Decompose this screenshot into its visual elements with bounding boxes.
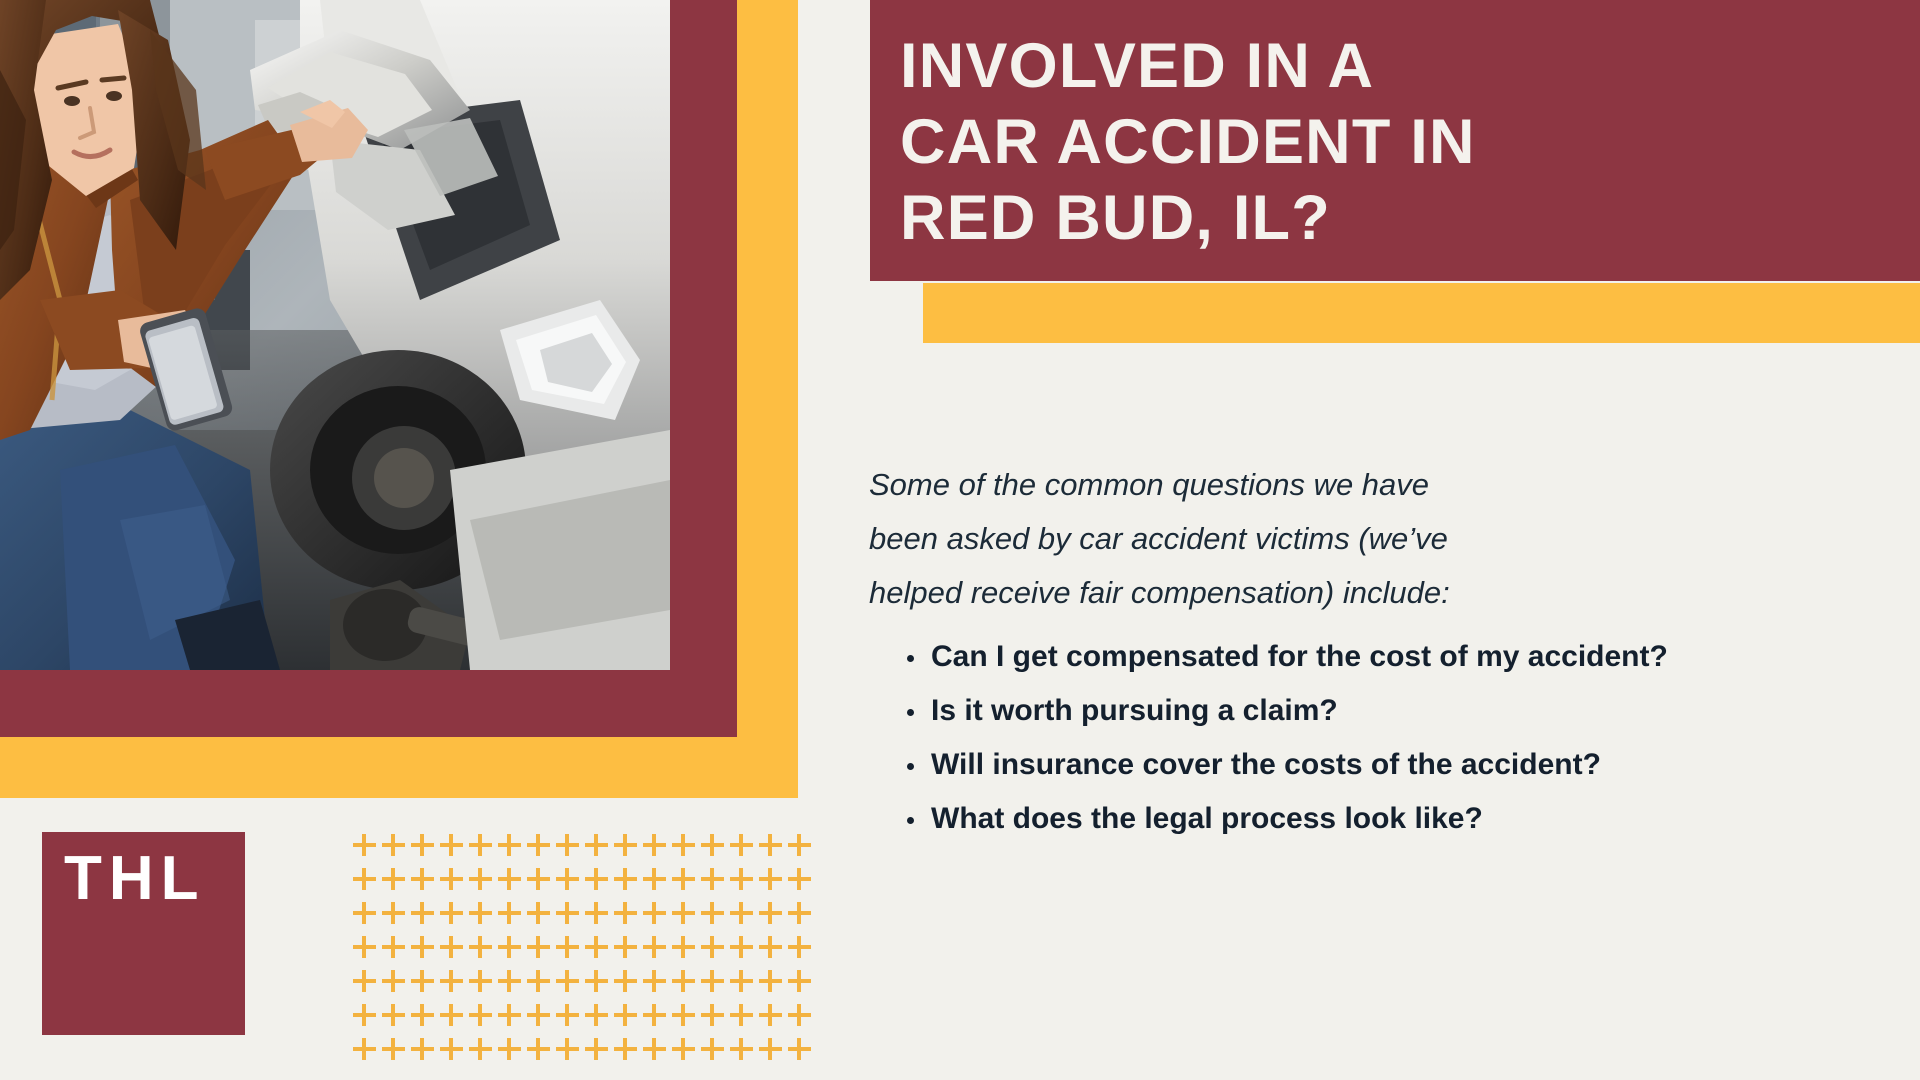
plus-icon — [381, 968, 410, 997]
plus-icon — [584, 1002, 613, 1031]
plus-icon — [613, 832, 642, 861]
plus-icon — [526, 900, 555, 929]
plus-icon — [787, 900, 816, 929]
poster-canvas: INVOLVED IN A CAR ACCIDENT IN RED BUD, I… — [0, 0, 1920, 1080]
plus-icon — [410, 968, 439, 997]
plus-icon — [729, 968, 758, 997]
plus-icon — [700, 968, 729, 997]
body-content: Some of the common questions we have bee… — [869, 458, 1699, 846]
question-list: Can I get compensated for the cost of my… — [869, 630, 1699, 846]
plus-icon — [671, 866, 700, 895]
plus-icon — [497, 968, 526, 997]
plus-icon — [439, 900, 468, 929]
plus-icon — [584, 1036, 613, 1065]
plus-icon — [410, 900, 439, 929]
plus-icon — [700, 832, 729, 861]
plus-icon — [410, 1036, 439, 1065]
plus-icon — [787, 1036, 816, 1065]
plus-icon — [439, 968, 468, 997]
plus-icon — [758, 900, 787, 929]
plus-icon — [352, 1036, 381, 1065]
plus-icon — [671, 1036, 700, 1065]
plus-icon — [787, 1002, 816, 1031]
plus-icon — [381, 934, 410, 963]
hero-photo — [0, 0, 670, 670]
plus-icon — [555, 832, 584, 861]
plus-icon — [642, 1002, 671, 1031]
plus-icon — [555, 866, 584, 895]
plus-icon — [526, 832, 555, 861]
plus-icon — [729, 866, 758, 895]
plus-icon — [526, 1036, 555, 1065]
plus-icon — [381, 866, 410, 895]
plus-icon — [497, 900, 526, 929]
plus-icon — [555, 968, 584, 997]
plus-icon — [584, 866, 613, 895]
plus-icon — [642, 866, 671, 895]
plus-icon — [352, 900, 381, 929]
plus-icon — [468, 968, 497, 997]
plus-icon — [613, 1036, 642, 1065]
plus-icon — [729, 900, 758, 929]
plus-icon — [787, 832, 816, 861]
plus-icon — [584, 900, 613, 929]
plus-icon — [468, 934, 497, 963]
plus-icon — [439, 934, 468, 963]
plus-icon — [671, 1002, 700, 1031]
plus-icon — [787, 934, 816, 963]
plus-icon — [758, 1036, 787, 1065]
plus-icon — [526, 934, 555, 963]
list-item: Will insurance cover the costs of the ac… — [869, 738, 1699, 792]
plus-icon — [584, 832, 613, 861]
plus-icon — [700, 900, 729, 929]
plus-icon — [642, 900, 671, 929]
plus-icon — [352, 968, 381, 997]
plus-icon — [700, 1002, 729, 1031]
plus-icon — [352, 866, 381, 895]
intro-paragraph: Some of the common questions we have bee… — [869, 458, 1469, 620]
plus-icon — [410, 934, 439, 963]
plus-icon — [613, 1002, 642, 1031]
header-accent-bar — [923, 283, 1920, 343]
plus-icon — [352, 832, 381, 861]
plus-icon — [642, 934, 671, 963]
plus-icon — [758, 934, 787, 963]
plus-icon — [439, 866, 468, 895]
plus-icon — [497, 934, 526, 963]
plus-icon — [381, 900, 410, 929]
plus-icon — [468, 866, 497, 895]
plus-icon — [758, 832, 787, 861]
logo-text: THL — [64, 848, 206, 910]
plus-icon — [671, 934, 700, 963]
plus-icon — [381, 1002, 410, 1031]
plus-icon — [497, 1036, 526, 1065]
plus-icon — [352, 934, 381, 963]
list-item: Is it worth pursuing a claim? — [869, 684, 1699, 738]
plus-pattern-decoration — [352, 832, 816, 1065]
plus-icon — [555, 1036, 584, 1065]
plus-icon — [352, 1002, 381, 1031]
plus-icon — [642, 832, 671, 861]
plus-icon — [410, 1002, 439, 1031]
list-item: What does the legal process look like? — [869, 792, 1699, 846]
plus-icon — [381, 832, 410, 861]
plus-icon — [613, 900, 642, 929]
plus-icon — [526, 968, 555, 997]
plus-icon — [671, 832, 700, 861]
plus-icon — [758, 866, 787, 895]
plus-icon — [613, 934, 642, 963]
plus-icon — [497, 832, 526, 861]
plus-icon — [555, 900, 584, 929]
plus-icon — [497, 1002, 526, 1031]
plus-icon — [787, 866, 816, 895]
plus-icon — [439, 1002, 468, 1031]
plus-icon — [613, 866, 642, 895]
plus-icon — [555, 934, 584, 963]
plus-icon — [439, 832, 468, 861]
plus-icon — [729, 1002, 758, 1031]
plus-icon — [642, 968, 671, 997]
plus-icon — [671, 900, 700, 929]
plus-icon — [671, 968, 700, 997]
plus-icon — [555, 1002, 584, 1031]
plus-icon — [584, 934, 613, 963]
plus-icon — [439, 1036, 468, 1065]
plus-icon — [700, 934, 729, 963]
plus-icon — [787, 968, 816, 997]
list-item: Can I get compensated for the cost of my… — [869, 630, 1699, 684]
plus-icon — [729, 832, 758, 861]
page-title: INVOLVED IN A CAR ACCIDENT IN RED BUD, I… — [900, 28, 1880, 256]
plus-icon — [758, 968, 787, 997]
plus-icon — [584, 968, 613, 997]
plus-icon — [468, 832, 497, 861]
plus-icon — [526, 1002, 555, 1031]
plus-icon — [700, 1036, 729, 1065]
thl-logo: THL — [42, 832, 245, 1035]
plus-icon — [642, 1036, 671, 1065]
header-banner: INVOLVED IN A CAR ACCIDENT IN RED BUD, I… — [870, 0, 1920, 281]
plus-icon — [497, 866, 526, 895]
plus-icon — [468, 1036, 497, 1065]
plus-icon — [729, 934, 758, 963]
plus-icon — [468, 1002, 497, 1031]
plus-icon — [613, 968, 642, 997]
plus-icon — [381, 1036, 410, 1065]
plus-icon — [758, 1002, 787, 1031]
plus-icon — [729, 1036, 758, 1065]
plus-icon — [700, 866, 729, 895]
plus-icon — [410, 866, 439, 895]
plus-icon — [410, 832, 439, 861]
plus-icon — [468, 900, 497, 929]
plus-icon — [526, 866, 555, 895]
